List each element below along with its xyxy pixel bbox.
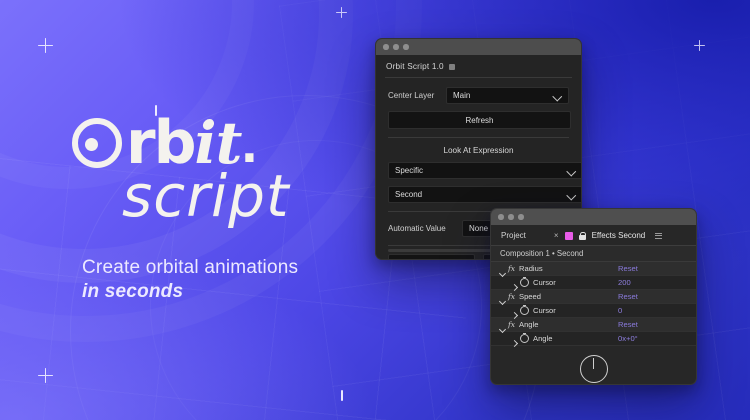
window-titlebar[interactable]: [491, 209, 696, 225]
close-tab-icon[interactable]: ×: [554, 231, 559, 240]
tab-project[interactable]: Project: [501, 231, 526, 240]
property-name: Cursor: [533, 306, 618, 315]
panel-menu-icon[interactable]: [655, 233, 662, 239]
minimize-window-button[interactable]: [393, 44, 399, 50]
stopwatch-icon[interactable]: [520, 334, 529, 343]
plus-marker-icon: [336, 7, 347, 18]
brand-logo: rb it . script: [72, 112, 290, 224]
close-window-button[interactable]: [498, 214, 504, 220]
brand-wordmark-script: script: [122, 168, 290, 224]
window-titlebar[interactable]: [376, 39, 581, 55]
property-value[interactable]: 200: [618, 278, 696, 287]
close-window-button[interactable]: [383, 44, 389, 50]
refresh-button[interactable]: Refresh: [388, 111, 571, 129]
property-value[interactable]: 0: [618, 306, 696, 315]
tick-marker: [341, 390, 343, 401]
effect-value[interactable]: Reset: [618, 292, 696, 301]
chevron-down-icon: [568, 168, 576, 173]
expression-layer-select[interactable]: Second: [388, 186, 582, 203]
automatic-value-label: Automatic Value: [388, 224, 462, 233]
table-row[interactable]: Cursor 200: [491, 276, 696, 290]
tagline: Create orbital animations in seconds: [82, 256, 298, 304]
angle-dial-control[interactable]: [580, 355, 608, 383]
property-name: Cursor: [533, 278, 618, 287]
plus-marker-icon: [38, 38, 53, 53]
expression-target-select[interactable]: Specific: [388, 162, 582, 179]
panel-title-row: Orbit Script 1.0: [376, 55, 581, 77]
chevron-down-icon: [554, 93, 562, 98]
composition-breadcrumb: Composition 1 • Second: [491, 246, 696, 262]
table-row[interactable]: fx Radius Reset: [491, 262, 696, 276]
center-layer-row: Center Layer Main: [388, 87, 569, 104]
table-row[interactable]: Angle 0x+0°: [491, 332, 696, 346]
color-swatch-icon[interactable]: [565, 232, 573, 240]
effect-value[interactable]: Reset: [618, 320, 696, 329]
automatic-value-value: None: [469, 224, 488, 233]
stopwatch-icon[interactable]: [520, 306, 529, 315]
effect-value[interactable]: Reset: [618, 264, 696, 273]
table-row[interactable]: Cursor 0: [491, 304, 696, 318]
fx-badge-icon: fx: [508, 264, 519, 273]
lock-icon[interactable]: [579, 232, 586, 240]
poster-canvas: rb it . script Create orbital animations…: [0, 0, 750, 420]
effect-name: Radius: [519, 264, 618, 273]
panel-title: Orbit Script 1.0: [386, 62, 444, 71]
fx-badge-icon: fx: [508, 320, 519, 329]
look-at-expression-heading: Look At Expression: [388, 146, 569, 155]
center-layer-select[interactable]: Main: [446, 87, 569, 104]
effects-window[interactable]: Project × Effects Second Composition 1 •…: [490, 208, 697, 385]
maximize-window-button[interactable]: [518, 214, 524, 220]
stopwatch-icon[interactable]: [520, 278, 529, 287]
effects-list: fx Radius Reset Cursor 200 fx Speed Rese…: [491, 262, 696, 346]
plus-marker-icon: [694, 40, 705, 51]
tagline-line-2: in seconds: [82, 280, 298, 304]
angle-dial-container: [491, 346, 696, 383]
panel-menu-icon[interactable]: [449, 64, 455, 70]
fx-badge-icon: fx: [508, 292, 519, 301]
property-value[interactable]: 0x+0°: [618, 334, 696, 343]
plus-marker-icon: [38, 368, 53, 383]
table-row[interactable]: fx Speed Reset: [491, 290, 696, 304]
divider: [388, 137, 569, 138]
center-layer-value: Main: [453, 91, 470, 100]
tab-effects-second[interactable]: Effects Second: [592, 231, 646, 240]
effect-name: Speed: [519, 292, 618, 301]
maximize-window-button[interactable]: [403, 44, 409, 50]
expression-layer-value: Second: [395, 190, 422, 199]
expression-target-value: Specific: [395, 166, 423, 175]
minimize-window-button[interactable]: [508, 214, 514, 220]
orbit-ring-icon: [72, 118, 122, 168]
property-name: Angle: [533, 334, 618, 343]
effects-tabbar: Project × Effects Second: [491, 225, 696, 246]
table-row[interactable]: fx Angle Reset: [491, 318, 696, 332]
effect-name: Angle: [519, 320, 618, 329]
tagline-line-1: Create orbital animations: [82, 257, 298, 278]
orb-it-button[interactable]: Orb it!: [388, 254, 475, 260]
chevron-down-icon: [568, 192, 576, 197]
center-layer-label: Center Layer: [388, 91, 446, 100]
